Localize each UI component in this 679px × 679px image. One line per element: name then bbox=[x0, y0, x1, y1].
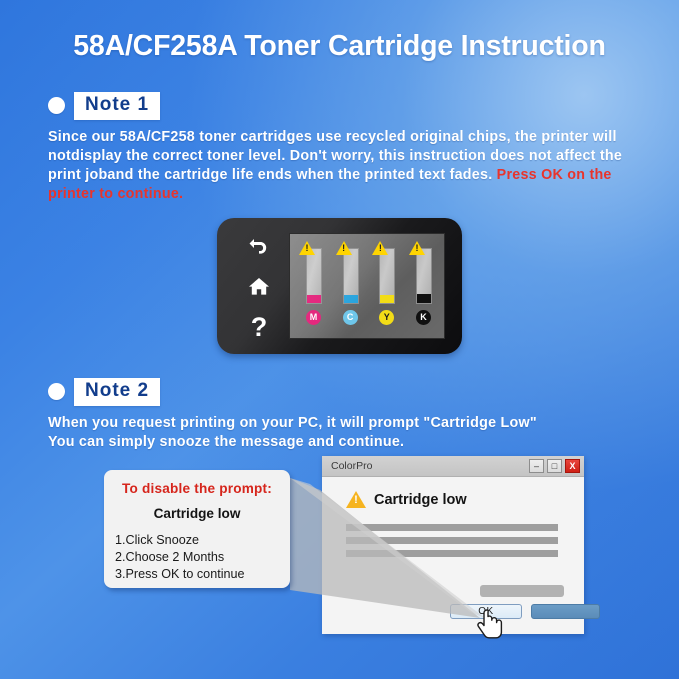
placeholder-bar bbox=[346, 524, 558, 531]
minimize-button[interactable]: – bbox=[529, 459, 544, 473]
note-2-header: Note 2 bbox=[48, 378, 160, 406]
warning-triangle-icon bbox=[299, 241, 315, 255]
window-controls: – □ X bbox=[529, 459, 580, 473]
dialog-message: Cartridge low bbox=[374, 492, 467, 508]
dialog-titlebar[interactable]: ColorPro – □ X bbox=[322, 456, 584, 477]
warning-triangle-icon bbox=[409, 241, 425, 255]
note-1-badge: Note 1 bbox=[74, 92, 160, 120]
toner-label-cyan: C bbox=[343, 310, 358, 325]
warning-triangle-icon bbox=[346, 491, 366, 508]
callout-subtitle: Cartridge low bbox=[104, 506, 290, 521]
disable-prompt-callout: To disable the prompt: Cartridge low 1.C… bbox=[104, 470, 290, 588]
poster-background: 58A/CF258A Toner Cartridge Instruction N… bbox=[0, 0, 679, 679]
cartridge-bar bbox=[416, 248, 432, 304]
callout-step: 3.Press OK to continue bbox=[115, 566, 285, 583]
note-2-badge: Note 2 bbox=[74, 378, 160, 406]
placeholder-field bbox=[480, 585, 564, 597]
toner-label-yellow: Y bbox=[379, 310, 394, 325]
toner-gauge-black: K bbox=[409, 240, 437, 334]
note-bullet-icon bbox=[48, 383, 65, 400]
note-bullet-icon bbox=[48, 97, 65, 114]
hand-cursor-icon bbox=[476, 608, 508, 644]
callout-title: To disable the prompt: bbox=[104, 481, 290, 496]
printer-control-panel: ? M C bbox=[217, 218, 462, 354]
toner-gauge-cyan: C bbox=[336, 240, 364, 334]
warning-triangle-icon bbox=[372, 241, 388, 255]
dialog-title: ColorPro bbox=[331, 460, 372, 472]
close-button[interactable]: X bbox=[565, 459, 580, 473]
home-icon[interactable] bbox=[248, 273, 270, 299]
cartridge-fill bbox=[344, 295, 358, 303]
cartridge-fill bbox=[380, 295, 394, 303]
cartridge-bar bbox=[343, 248, 359, 304]
panel-key-column: ? bbox=[237, 232, 281, 340]
back-arrow-icon[interactable] bbox=[248, 232, 270, 258]
cartridge-bar bbox=[379, 248, 395, 304]
warning-triangle-icon bbox=[336, 241, 352, 255]
cartridge-low-dialog: ColorPro – □ X Cartridge low OK bbox=[322, 456, 584, 634]
cartridge-fill bbox=[307, 295, 321, 303]
toner-gauge-yellow: Y bbox=[372, 240, 400, 334]
placeholder-bar bbox=[346, 550, 558, 557]
toner-label-magenta: M bbox=[306, 310, 321, 325]
secondary-button[interactable] bbox=[531, 604, 600, 619]
callout-step: 2.Choose 2 Months bbox=[115, 549, 285, 566]
placeholder-bar bbox=[346, 537, 558, 544]
toner-gauges: M C Y bbox=[299, 240, 437, 334]
toner-gauge-magenta: M bbox=[299, 240, 327, 334]
cartridge-fill bbox=[417, 294, 431, 303]
maximize-button[interactable]: □ bbox=[547, 459, 562, 473]
callout-step: 1.Click Snooze bbox=[115, 532, 285, 549]
note-2-line-2: You can simply snooze the message and co… bbox=[48, 433, 648, 452]
note-1-header: Note 1 bbox=[48, 92, 160, 120]
toner-label-black: K bbox=[416, 310, 431, 325]
note-2-body: When you request printing on your PC, it… bbox=[48, 414, 648, 452]
callout-steps: 1.Click Snooze 2.Choose 2 Months 3.Press… bbox=[115, 532, 285, 583]
note-2-line-1: When you request printing on your PC, it… bbox=[48, 414, 648, 433]
note-1-body: Since our 58A/CF258 toner cartridges use… bbox=[48, 128, 638, 204]
printer-screen: M C Y bbox=[289, 233, 445, 339]
cartridge-bar bbox=[306, 248, 322, 304]
page-title: 58A/CF258A Toner Cartridge Instruction bbox=[0, 30, 679, 63]
help-question-icon[interactable]: ? bbox=[251, 314, 268, 340]
